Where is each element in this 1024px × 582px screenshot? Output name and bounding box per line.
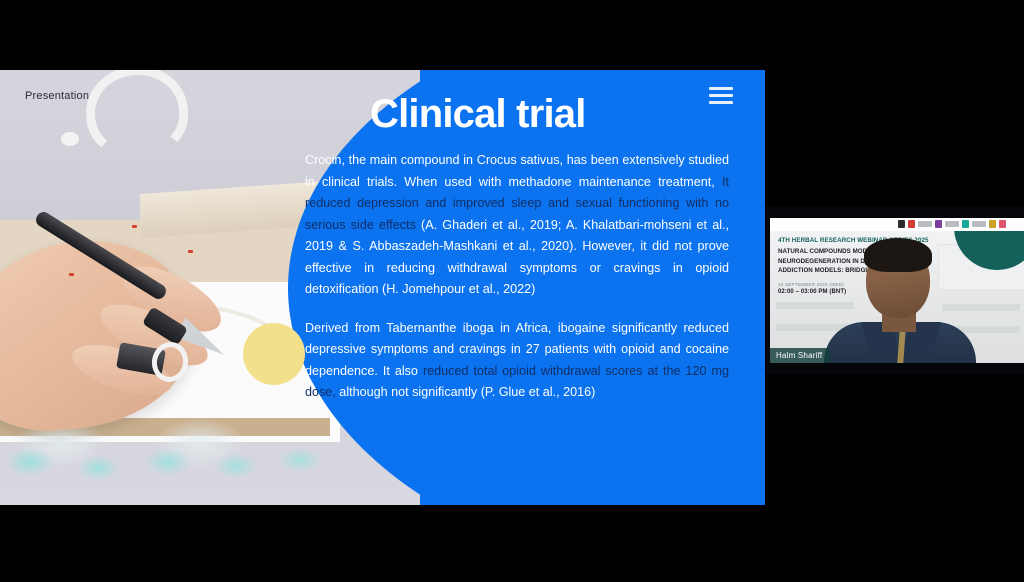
slide-paragraph: Crocin, the main compound in Crocus sati… — [305, 150, 729, 301]
hamburger-menu-icon[interactable] — [709, 87, 733, 104]
academy-logo-icon — [989, 220, 996, 228]
speaker-hair — [864, 238, 932, 272]
slide-title: Clinical trial — [370, 92, 586, 137]
logo-wordmark — [945, 221, 959, 227]
crest-logo-icon — [898, 220, 905, 228]
screen-share-view: Presentation Clinical trial Crocin, the … — [0, 0, 1024, 582]
sponsor-logos — [898, 220, 1006, 228]
bench-shape — [942, 304, 1020, 311]
society-logo-icon — [962, 220, 969, 228]
red-mark — [132, 225, 137, 228]
partner-logo-icon — [999, 220, 1006, 228]
presentation-corner-label: Presentation — [25, 90, 89, 102]
logo-wordmark — [918, 221, 932, 227]
body-text: Crocin, the main compound in Crocus sati… — [305, 153, 729, 189]
university-logo-icon — [908, 220, 915, 228]
hamburger-bar — [709, 94, 733, 97]
video-frame: 4TH HERBAL RESEARCH WEBINAR SERIES 2025 … — [770, 218, 1024, 363]
logo-wordmark — [972, 221, 986, 227]
red-mark — [69, 273, 74, 276]
sponsor-logo-band — [770, 218, 1024, 231]
slide-body-text: Crocin, the main compound in Crocus sati… — [305, 150, 729, 404]
red-mark — [188, 250, 193, 253]
bench-shape — [776, 302, 854, 309]
stethoscope-bell-icon — [61, 132, 79, 146]
hamburger-bar — [709, 87, 733, 90]
institute-logo-icon — [935, 220, 942, 228]
body-text: although not significantly (P. Glue et a… — [336, 385, 596, 399]
yellow-circle-accent — [243, 323, 305, 385]
participant-video-tile[interactable]: 4TH HERBAL RESEARCH WEBINAR SERIES 2025 … — [765, 206, 1024, 374]
hamburger-bar — [709, 101, 733, 104]
speaker-name-badge: Halm Shariff — [770, 348, 830, 363]
presentation-slide[interactable]: Presentation Clinical trial Crocin, the … — [0, 70, 765, 505]
slide-paragraph: Derived from Tabernanthe iboga in Africa… — [305, 318, 729, 404]
